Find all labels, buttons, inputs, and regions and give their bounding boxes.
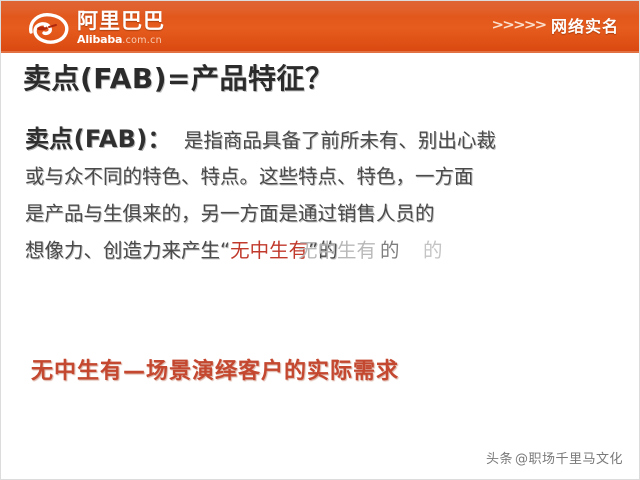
chevron-right-icons: >>>>> [491, 18, 545, 33]
logo-wordmark: 阿里巴巴 Alibaba.com.cn [77, 11, 165, 46]
header-tagline: 网络实名 [551, 13, 619, 37]
watermark: 头条@职场千里马文化 [486, 448, 623, 467]
header-right-group: >>>>> 网络实名 [495, 13, 619, 37]
page-title: 卖点(FAB)=产品特征？ [23, 57, 333, 97]
alibaba-swan-logo-icon [25, 11, 73, 45]
slide-header-bar: 阿里巴巴 Alibaba.com.cn >>>>> 网络实名 [1, 1, 640, 53]
logo-brand-latin: Alibaba.com.cn [77, 33, 165, 46]
body-ghost-layer-c: 的 [423, 232, 443, 269]
body-line-4-text: 想像力、创造力来产生“ [25, 239, 230, 262]
body-highlight-phrase: 无中生有 [230, 239, 308, 262]
watermark-handle: @职场千里马文化 [515, 452, 623, 467]
logo-brand-domain: .com.cn [122, 35, 162, 46]
alibaba-logo[interactable]: 阿里巴巴 Alibaba.com.cn [25, 9, 165, 47]
body-ghost-layer-b: 的 [380, 232, 400, 269]
body-line-4: 想像力、创造力来产生“无中生有”的无中生有的的 [25, 232, 619, 269]
slide-body: 卖点(FAB)：是指商品具备了前所未有、别出心裁 或与众不同的特色、特点。这些特… [25, 121, 619, 269]
body-line-2: 或与众不同的特色、特点。这些特点、特色，一方面 [25, 158, 619, 195]
body-line-1: 卖点(FAB)：是指商品具备了前所未有、别出心裁 [25, 121, 619, 158]
presentation-slide: 阿里巴巴 Alibaba.com.cn >>>>> 网络实名 卖点(FAB)=产… [0, 0, 640, 480]
body-line-3: 是产品与生俱来的，另一方面是通过销售人员的 [25, 195, 619, 232]
body-lead-label: 卖点(FAB)： [25, 125, 172, 153]
watermark-source: 头条 [486, 452, 513, 467]
logo-brand-en: Alibaba [77, 33, 122, 46]
conclusion-text: 无中生有—场景演绎客户的实际需求 [31, 353, 399, 385]
logo-brand-cn: 阿里巴巴 [77, 11, 165, 32]
body-line-1-text: 是指商品具备了前所未有、别出心裁 [184, 129, 496, 152]
body-ghost-layer-a: 无中生有 [298, 232, 376, 269]
